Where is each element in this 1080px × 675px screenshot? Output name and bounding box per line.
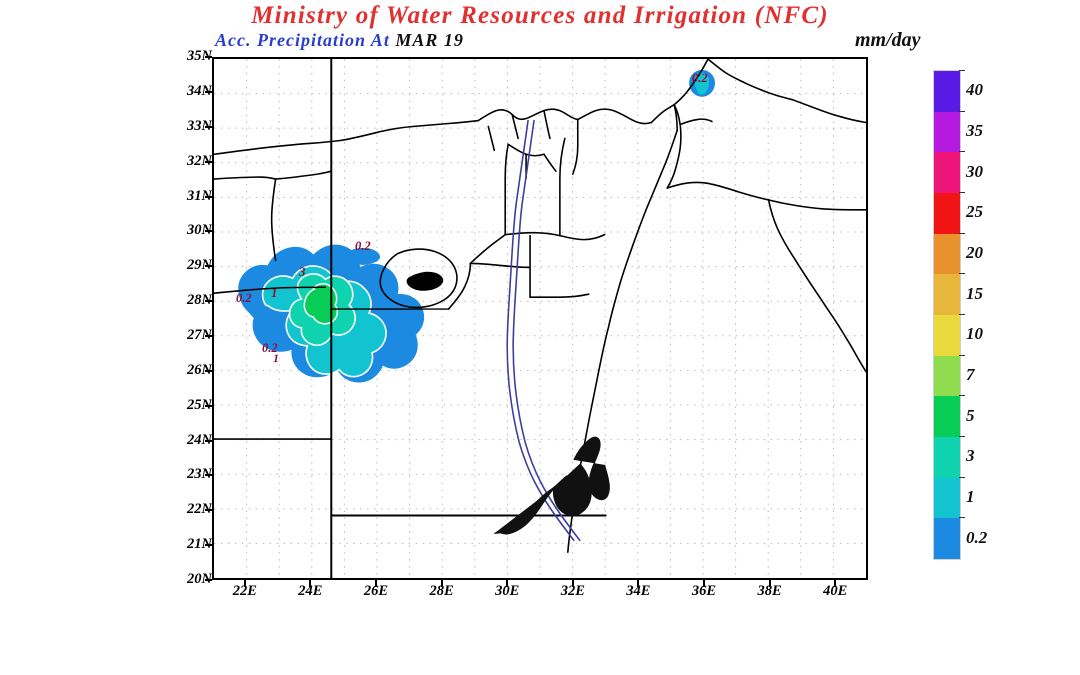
colorbar-tick <box>959 517 965 518</box>
lon-tick-mark <box>309 580 311 587</box>
lon-tick-mark <box>506 580 508 587</box>
colorbar-segment <box>934 234 960 275</box>
contour-label-1-inner: 1 <box>271 285 278 301</box>
colorbar-label: 25 <box>966 202 983 222</box>
lon-tick-mark <box>703 580 705 587</box>
colorbar-segment <box>934 71 960 112</box>
colorbar-segment <box>934 274 960 315</box>
lat-tick-mark <box>205 474 212 476</box>
map-svg <box>214 59 866 578</box>
colorbar-segment <box>934 112 960 153</box>
lon-tick-mark <box>244 580 246 587</box>
contour-label-0.2-patch: 0.2 <box>355 239 371 254</box>
contour-label-0.2-west: 0.2 <box>236 291 252 306</box>
lake-nasser <box>494 437 609 534</box>
colorbar-segment <box>934 193 960 234</box>
lat-tick-mark <box>205 509 212 511</box>
colorbar-label: 20 <box>966 243 983 263</box>
colorbar-label: 15 <box>966 284 983 304</box>
colorbar-label: 0.2 <box>966 528 987 548</box>
colorbar-label: 1 <box>966 487 975 507</box>
colorbar-segment <box>934 437 960 478</box>
colorbar-label: 5 <box>966 406 975 426</box>
colorbar-segment <box>934 152 960 193</box>
colorbar-tick <box>959 111 965 112</box>
lat-tick-mark <box>205 300 212 302</box>
colorbar-segment <box>934 356 960 397</box>
lat-tick-mark <box>205 405 212 407</box>
lon-tick-mark <box>637 580 639 587</box>
lat-tick-mark <box>205 544 212 546</box>
colorbar-tick <box>959 151 965 152</box>
lat-tick-mark <box>205 370 212 372</box>
colorbar-label: 40 <box>966 80 983 100</box>
colorbar-tick <box>959 314 965 315</box>
colorbar-segment <box>934 315 960 356</box>
contour-label-0.2-lebanon: 0.2 <box>692 71 708 86</box>
colorbar-label: 30 <box>966 162 983 182</box>
lat-tick-mark <box>205 161 212 163</box>
colorbar-tick <box>959 273 965 274</box>
units-label: mm/day <box>855 29 921 52</box>
colorbar-tick <box>959 436 965 437</box>
colorbar-tick <box>959 70 965 71</box>
subtitle-prefix: Acc. Precipitation At <box>215 30 395 50</box>
colorbar-label: 35 <box>966 121 983 141</box>
lat-tick-mark <box>205 440 212 442</box>
colorbar-tick <box>959 477 965 478</box>
colorbar-segment <box>934 518 960 559</box>
lon-tick-mark <box>834 580 836 587</box>
colorbar-tick <box>959 192 965 193</box>
contour-label-0.2-south: 0.2 <box>262 341 278 356</box>
lat-tick-mark <box>205 196 212 198</box>
map-canvas: 0.2 1 3 1 0.2 0.2 0.2 <box>214 59 866 578</box>
colorbar-label: 3 <box>966 446 975 466</box>
lat-tick-mark <box>205 265 212 267</box>
colorbar <box>933 70 961 560</box>
colorbar-tick <box>959 395 965 396</box>
chart-subtitle: Acc. Precipitation At MAR 19 <box>215 30 464 51</box>
lat-tick-mark <box>205 126 212 128</box>
colorbar-tick <box>959 233 965 234</box>
colorbar-label: 10 <box>966 324 983 344</box>
colorbar-segment <box>934 478 960 519</box>
lat-tick-mark <box>205 335 212 337</box>
colorbar-tick <box>959 355 965 356</box>
colorbar-label: 7 <box>966 365 975 385</box>
lat-tick-mark <box>205 56 212 58</box>
lon-tick-mark <box>572 580 574 587</box>
subtitle-date: MAR 19 <box>395 30 464 50</box>
lon-tick-mark <box>375 580 377 587</box>
map-plot-area: 0.2 1 3 1 0.2 0.2 0.2 <box>212 57 868 580</box>
lat-tick-mark <box>205 230 212 232</box>
lat-tick-mark <box>205 91 212 93</box>
lon-tick-mark <box>769 580 771 587</box>
page-title: Ministry of Water Resources and Irrigati… <box>0 2 1080 30</box>
lat-tick-mark <box>205 579 212 581</box>
contour-label-3-core: 3 <box>299 264 306 280</box>
precipitation-map-page: Ministry of Water Resources and Irrigati… <box>0 0 1080 675</box>
lon-tick-mark <box>441 580 443 587</box>
colorbar-segment <box>934 396 960 437</box>
